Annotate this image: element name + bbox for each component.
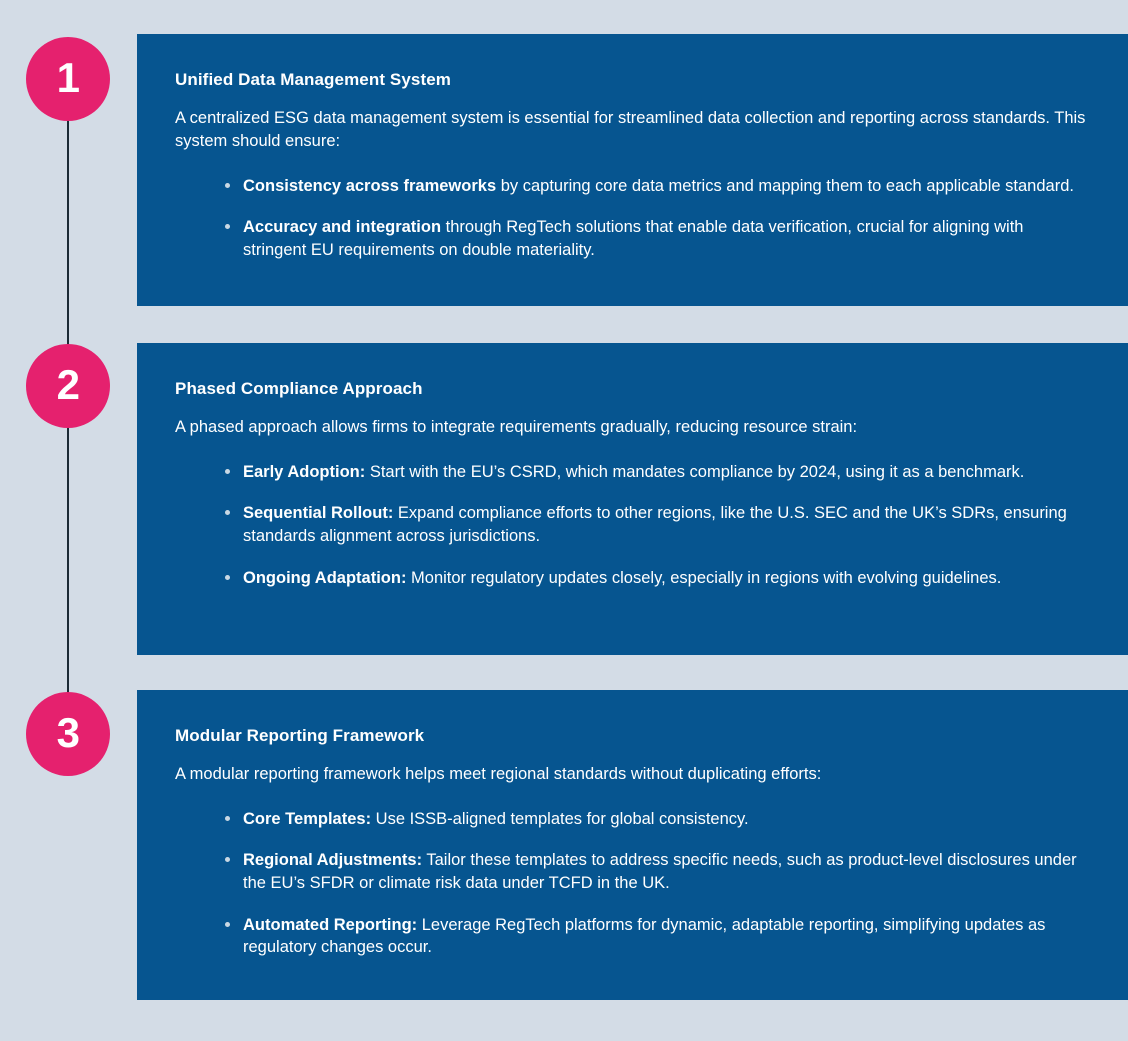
step-number-3: 3 <box>57 712 80 754</box>
list-item: Early Adoption: Start with the EU’s CSRD… <box>243 461 1088 484</box>
step-intro-1: A centralized ESG data management system… <box>175 107 1088 153</box>
step-title-3: Modular Reporting Framework <box>175 726 1088 746</box>
bullet-lead: Ongoing Adaptation: <box>243 569 406 587</box>
bullet-lead: Core Templates: <box>243 810 371 828</box>
bullet-dot-icon <box>225 857 230 862</box>
list-item: Automated Reporting: Leverage RegTech pl… <box>243 914 1088 959</box>
bullet-lead: Sequential Rollout: <box>243 504 393 522</box>
step-card-3: Modular Reporting Framework A modular re… <box>137 690 1128 1000</box>
bullet-text: Monitor regulatory updates closely, espe… <box>406 569 1001 587</box>
bullet-lead: Regional Adjustments: <box>243 851 422 869</box>
step-intro-3: A modular reporting framework helps meet… <box>175 763 1088 786</box>
step-title-1: Unified Data Management System <box>175 70 1088 90</box>
step-card-2: Phased Compliance Approach A phased appr… <box>137 343 1128 655</box>
list-item: Consistency across frameworks by capturi… <box>243 175 1088 198</box>
bullet-text: Start with the EU’s CSRD, which mandates… <box>365 463 1024 481</box>
bullet-dot-icon <box>225 575 230 580</box>
bullet-dot-icon <box>225 922 230 927</box>
list-item: Ongoing Adaptation: Monitor regulatory u… <box>243 567 1088 590</box>
step-number-2: 2 <box>57 364 80 406</box>
bullet-dot-icon <box>225 816 230 821</box>
list-item: Regional Adjustments: Tailor these templ… <box>243 849 1088 894</box>
bullet-lead: Early Adoption: <box>243 463 365 481</box>
list-item: Core Templates: Use ISSB-aligned templat… <box>243 808 1088 831</box>
step-marker-2: 2 <box>26 344 110 428</box>
list-item: Accuracy and integration through RegTech… <box>243 216 1088 261</box>
bullet-lead: Consistency across frameworks <box>243 177 496 195</box>
step-intro-2: A phased approach allows firms to integr… <box>175 416 1088 439</box>
bullet-dot-icon <box>225 183 230 188</box>
bullet-text: Use ISSB-aligned templates for global co… <box>371 810 749 828</box>
step-marker-1: 1 <box>26 37 110 121</box>
bullet-dot-icon <box>225 510 230 515</box>
step-bullet-list-3: Core Templates: Use ISSB-aligned templat… <box>175 808 1088 959</box>
step-marker-3: 3 <box>26 692 110 776</box>
bullet-dot-icon <box>225 469 230 474</box>
bullet-lead: Automated Reporting: <box>243 916 417 934</box>
step-number-1: 1 <box>57 57 80 99</box>
step-card-1: Unified Data Management System A central… <box>137 34 1128 306</box>
steps-infographic: 1 Unified Data Management System A centr… <box>0 0 1128 1041</box>
list-item: Sequential Rollout: Expand compliance ef… <box>243 502 1088 547</box>
step-title-2: Phased Compliance Approach <box>175 379 1088 399</box>
step-bullet-list-2: Early Adoption: Start with the EU’s CSRD… <box>175 461 1088 589</box>
bullet-lead: Accuracy and integration <box>243 218 441 236</box>
bullet-dot-icon <box>225 224 230 229</box>
bullet-text: by capturing core data metrics and mappi… <box>496 177 1074 195</box>
step-bullet-list-1: Consistency across frameworks by capturi… <box>175 175 1088 262</box>
